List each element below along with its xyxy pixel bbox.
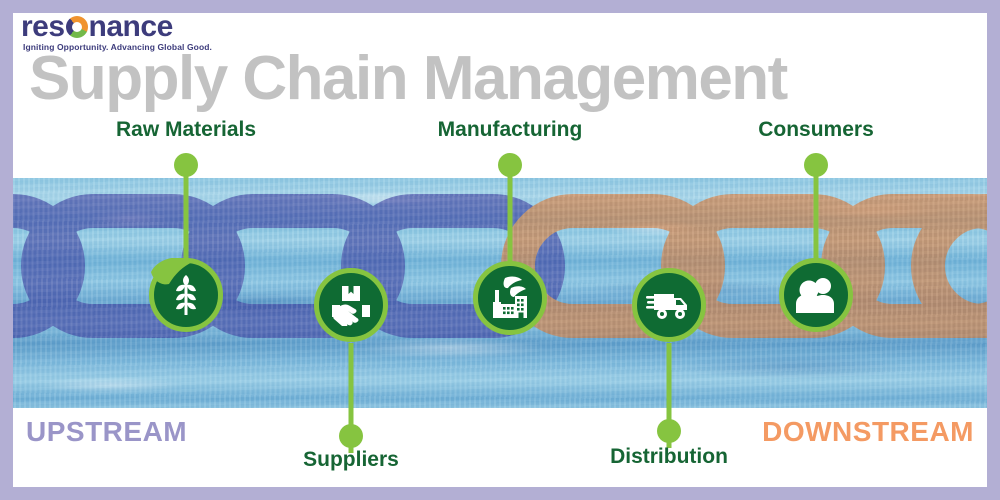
logo-word-pre: res <box>21 13 65 43</box>
pin-dot-distribution <box>657 419 681 443</box>
wheat-icon <box>166 273 206 317</box>
downstream-label: DOWNSTREAM <box>762 416 974 448</box>
handshake-icon <box>330 284 372 326</box>
upstream-label: UPSTREAM <box>26 416 187 448</box>
chain-link-upstream <box>13 211 548 321</box>
factory-icon <box>487 276 533 320</box>
pin-dot-manufacturing <box>498 153 522 177</box>
node-label-manufacturing: Manufacturing <box>438 118 583 142</box>
logo-wordmark: resnance <box>21 13 173 43</box>
chain-link-downstream <box>518 211 987 321</box>
node-label-consumers: Consumers <box>758 118 874 142</box>
node-label-raw-materials: Raw Materials <box>116 118 256 142</box>
logo-circle-icon <box>66 16 88 38</box>
icon-badge-distribution[interactable] <box>632 268 706 342</box>
people-icon <box>794 276 838 314</box>
icon-badge-raw-materials[interactable] <box>149 258 223 332</box>
node-label-distribution: Distribution <box>610 445 728 469</box>
pin-dot-raw-materials <box>174 153 198 177</box>
node-label-suppliers: Suppliers <box>303 448 399 472</box>
infographic-canvas: resnance Igniting Opportunity. Advancing… <box>13 13 987 487</box>
icon-badge-consumers[interactable] <box>779 258 853 332</box>
page-title: Supply Chain Management <box>29 44 969 114</box>
truck-icon <box>646 288 692 322</box>
pin-dot-consumers <box>804 153 828 177</box>
icon-badge-suppliers[interactable] <box>314 268 388 342</box>
pin-dot-suppliers <box>339 424 363 448</box>
infographic-border: resnance Igniting Opportunity. Advancing… <box>0 0 1000 500</box>
icon-badge-manufacturing[interactable] <box>473 261 547 335</box>
logo-word-post: nance <box>89 13 173 43</box>
